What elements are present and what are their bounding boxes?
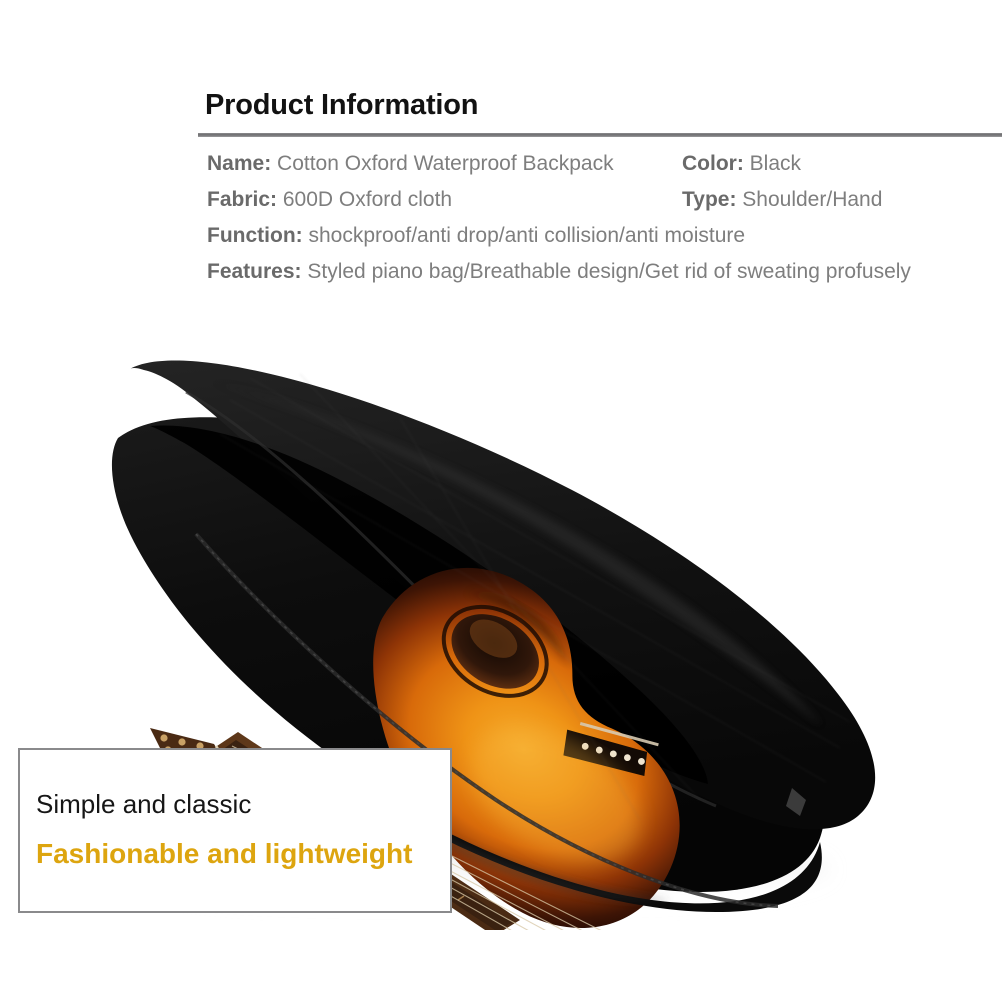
spec-cell-name: Name: Cotton Oxford Waterproof Backpack <box>207 152 614 176</box>
spec-value-function: shockproof/anti drop/anti collision/anti… <box>308 224 745 247</box>
spec-label-name: Name: <box>207 152 277 175</box>
page-title: Product Information <box>205 89 478 122</box>
spec-label-fabric: Fabric: <box>207 188 283 211</box>
spec-label-color: Color: <box>682 152 750 175</box>
spec-cell-features: Features: Styled piano bag/Breathable de… <box>207 260 911 284</box>
spec-label-function: Function: <box>207 224 308 247</box>
callout-line-primary: Simple and classic <box>36 789 251 820</box>
spec-row: Function: shockproof/anti drop/anti coll… <box>0 224 1002 260</box>
spec-label-features: Features: <box>207 260 307 283</box>
spec-value-color: Black <box>750 152 801 175</box>
spec-value-type: Shoulder/Hand <box>742 188 882 211</box>
spec-value-features: Styled piano bag/Breathable design/Get r… <box>307 260 911 283</box>
spec-value-fabric: 600D Oxford cloth <box>283 188 452 211</box>
spec-label-type: Type: <box>682 188 742 211</box>
spec-row: Name: Cotton Oxford Waterproof Backpack … <box>0 152 1002 188</box>
spec-value-name: Cotton Oxford Waterproof Backpack <box>277 152 614 175</box>
callout-box: Simple and classic Fashionable and light… <box>18 748 452 913</box>
spec-cell-color: Color: Black <box>682 152 801 176</box>
specification-list: Name: Cotton Oxford Waterproof Backpack … <box>0 152 1002 296</box>
spec-cell-fabric: Fabric: 600D Oxford cloth <box>207 188 452 212</box>
spec-row: Fabric: 600D Oxford cloth Type: Shoulder… <box>0 188 1002 224</box>
callout-line-accent: Fashionable and lightweight <box>36 838 412 870</box>
product-information-block: Product Information Name: Cotton Oxford … <box>0 0 1002 310</box>
spec-cell-type: Type: Shoulder/Hand <box>682 188 882 212</box>
spec-row: Features: Styled piano bag/Breathable de… <box>0 260 1002 296</box>
spec-cell-function: Function: shockproof/anti drop/anti coll… <box>207 224 745 248</box>
title-divider <box>198 133 1002 137</box>
